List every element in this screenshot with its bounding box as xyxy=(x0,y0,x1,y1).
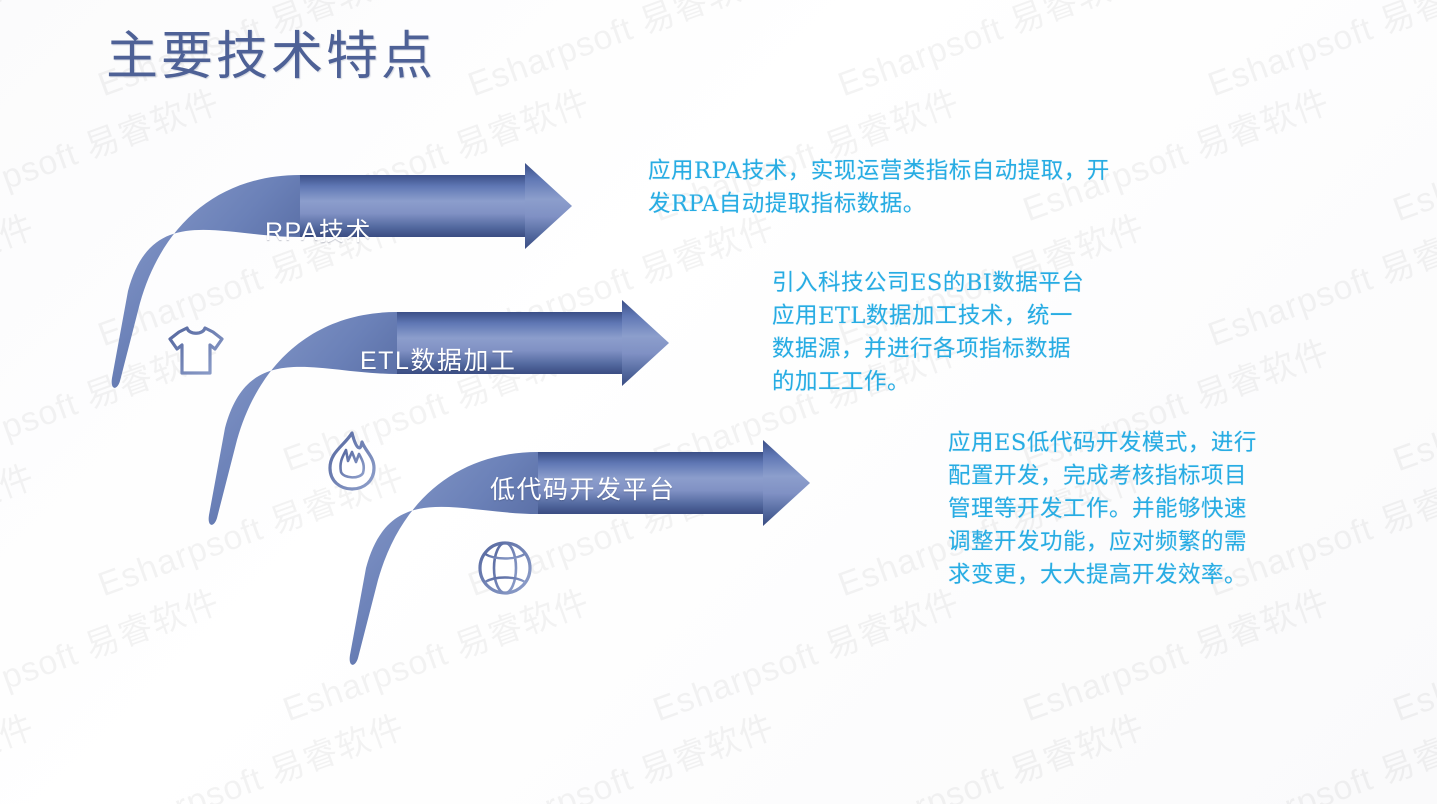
watermark-text: Esharpsoft 易睿软件 xyxy=(0,575,225,732)
watermark-text: Esharpsoft 易睿软件 xyxy=(1200,700,1437,804)
watermark-text: Esharpsoft 易睿软件 xyxy=(1385,575,1437,732)
page-title: 主要技术特点 xyxy=(106,14,436,89)
slide-canvas: Esharpsoft 易睿软件Esharpsoft 易睿软件Esharpsoft… xyxy=(0,0,1437,804)
watermark-text: Esharpsoft 易睿软件 xyxy=(460,0,780,106)
description-lowcode: 应用ES低代码开发模式，进行 配置开发，完成考核指标项目 管理等开发工作。并能够… xyxy=(948,427,1257,592)
globe-icon xyxy=(477,540,533,601)
description-etl: 引入科技公司ES的BI数据平台 应用ETL数据加工技术，统一 数据源，并进行各项… xyxy=(772,267,1084,399)
description-rpa: 应用RPA技术，实现运营类指标自动提取，开 发RPA自动提取指标数据。 xyxy=(648,155,1110,221)
watermark-text: Esharpsoft 易睿软件 xyxy=(90,700,410,804)
watermark-text: Esharpsoft 易睿软件 xyxy=(0,0,40,106)
watermark-text: Esharpsoft 易睿软件 xyxy=(1200,200,1437,357)
arrow-label-etl: ETL数据加工 xyxy=(360,341,516,377)
watermark-text: Esharpsoft 易睿软件 xyxy=(1015,575,1335,732)
watermark-text: Esharpsoft 易睿软件 xyxy=(0,700,40,804)
watermark-text: Esharpsoft 易睿软件 xyxy=(1385,75,1437,232)
watermark-text: Esharpsoft 易睿软件 xyxy=(460,700,780,804)
watermark-text: Esharpsoft 易睿软件 xyxy=(1200,0,1437,106)
watermark-text: Esharpsoft 易睿软件 xyxy=(830,700,1150,804)
arrow-label-lowcode: 低代码开发平台 xyxy=(490,470,676,506)
flame-icon xyxy=(324,430,380,497)
arrow-label-rpa: RPA技术 xyxy=(265,212,372,248)
watermark-text: Esharpsoft 易睿软件 xyxy=(830,0,1150,106)
watermark-text: Esharpsoft 易睿软件 xyxy=(0,200,40,357)
tshirt-icon xyxy=(166,322,226,385)
watermark-text: Esharpsoft 易睿软件 xyxy=(1385,325,1437,482)
watermark-text: Esharpsoft 易睿软件 xyxy=(0,450,40,607)
